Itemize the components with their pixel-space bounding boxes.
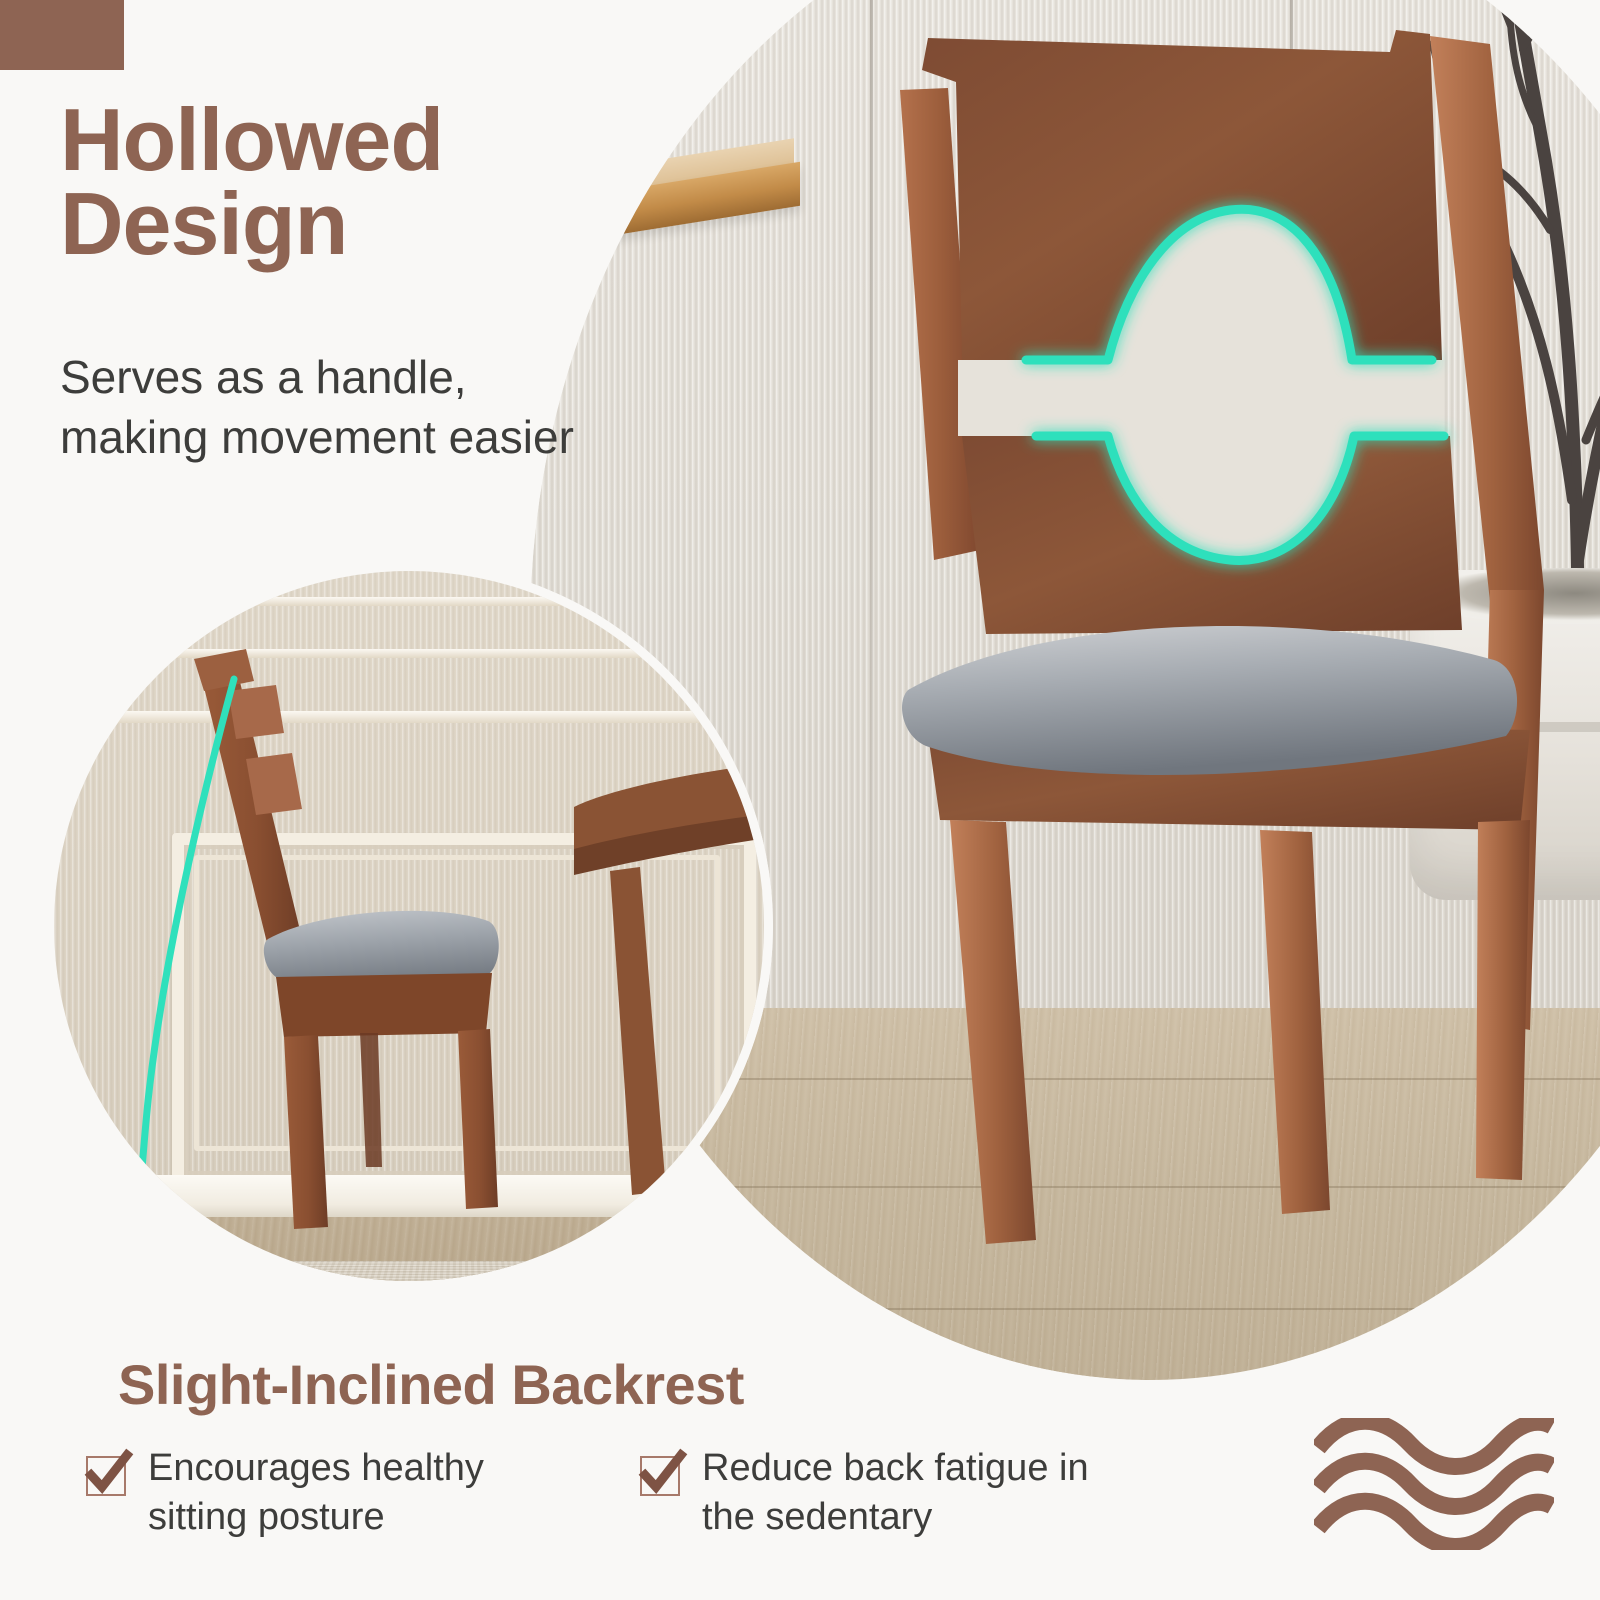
checkbox-checked-icon [84,1450,130,1496]
bottom-section-title: Slight-Inclined Backrest [118,1352,744,1417]
list-item-label: Reduce back fatigue in the sedentary [702,1444,1122,1541]
list-item: Encourages healthy sitting posture [84,1444,568,1541]
dining-table-side [574,721,764,1241]
chair-side-profile-inset-photo [45,562,773,1290]
dining-chair [830,30,1590,1330]
list-item: Reduce back fatigue in the sedentary [638,1444,1122,1541]
checkbox-checked-icon [638,1450,684,1496]
wave-lines-logo [1314,1418,1554,1550]
page-subtitle: Serves as a handle, making movement easi… [60,348,580,468]
accent-block [0,0,124,70]
backrest-incline-teal-curve [114,671,314,1231]
page-title-line-1: Hollowed [60,98,590,182]
marketing-graphic-canvas: Hollowed Design Serves as a handle, maki… [0,0,1600,1600]
feature-bullet-list: Encourages healthy sitting posture Reduc… [84,1444,1122,1541]
page-title: Hollowed Design [60,98,590,267]
page-title-line-2: Design [60,182,590,266]
list-item-label: Encourages healthy sitting posture [148,1444,568,1541]
